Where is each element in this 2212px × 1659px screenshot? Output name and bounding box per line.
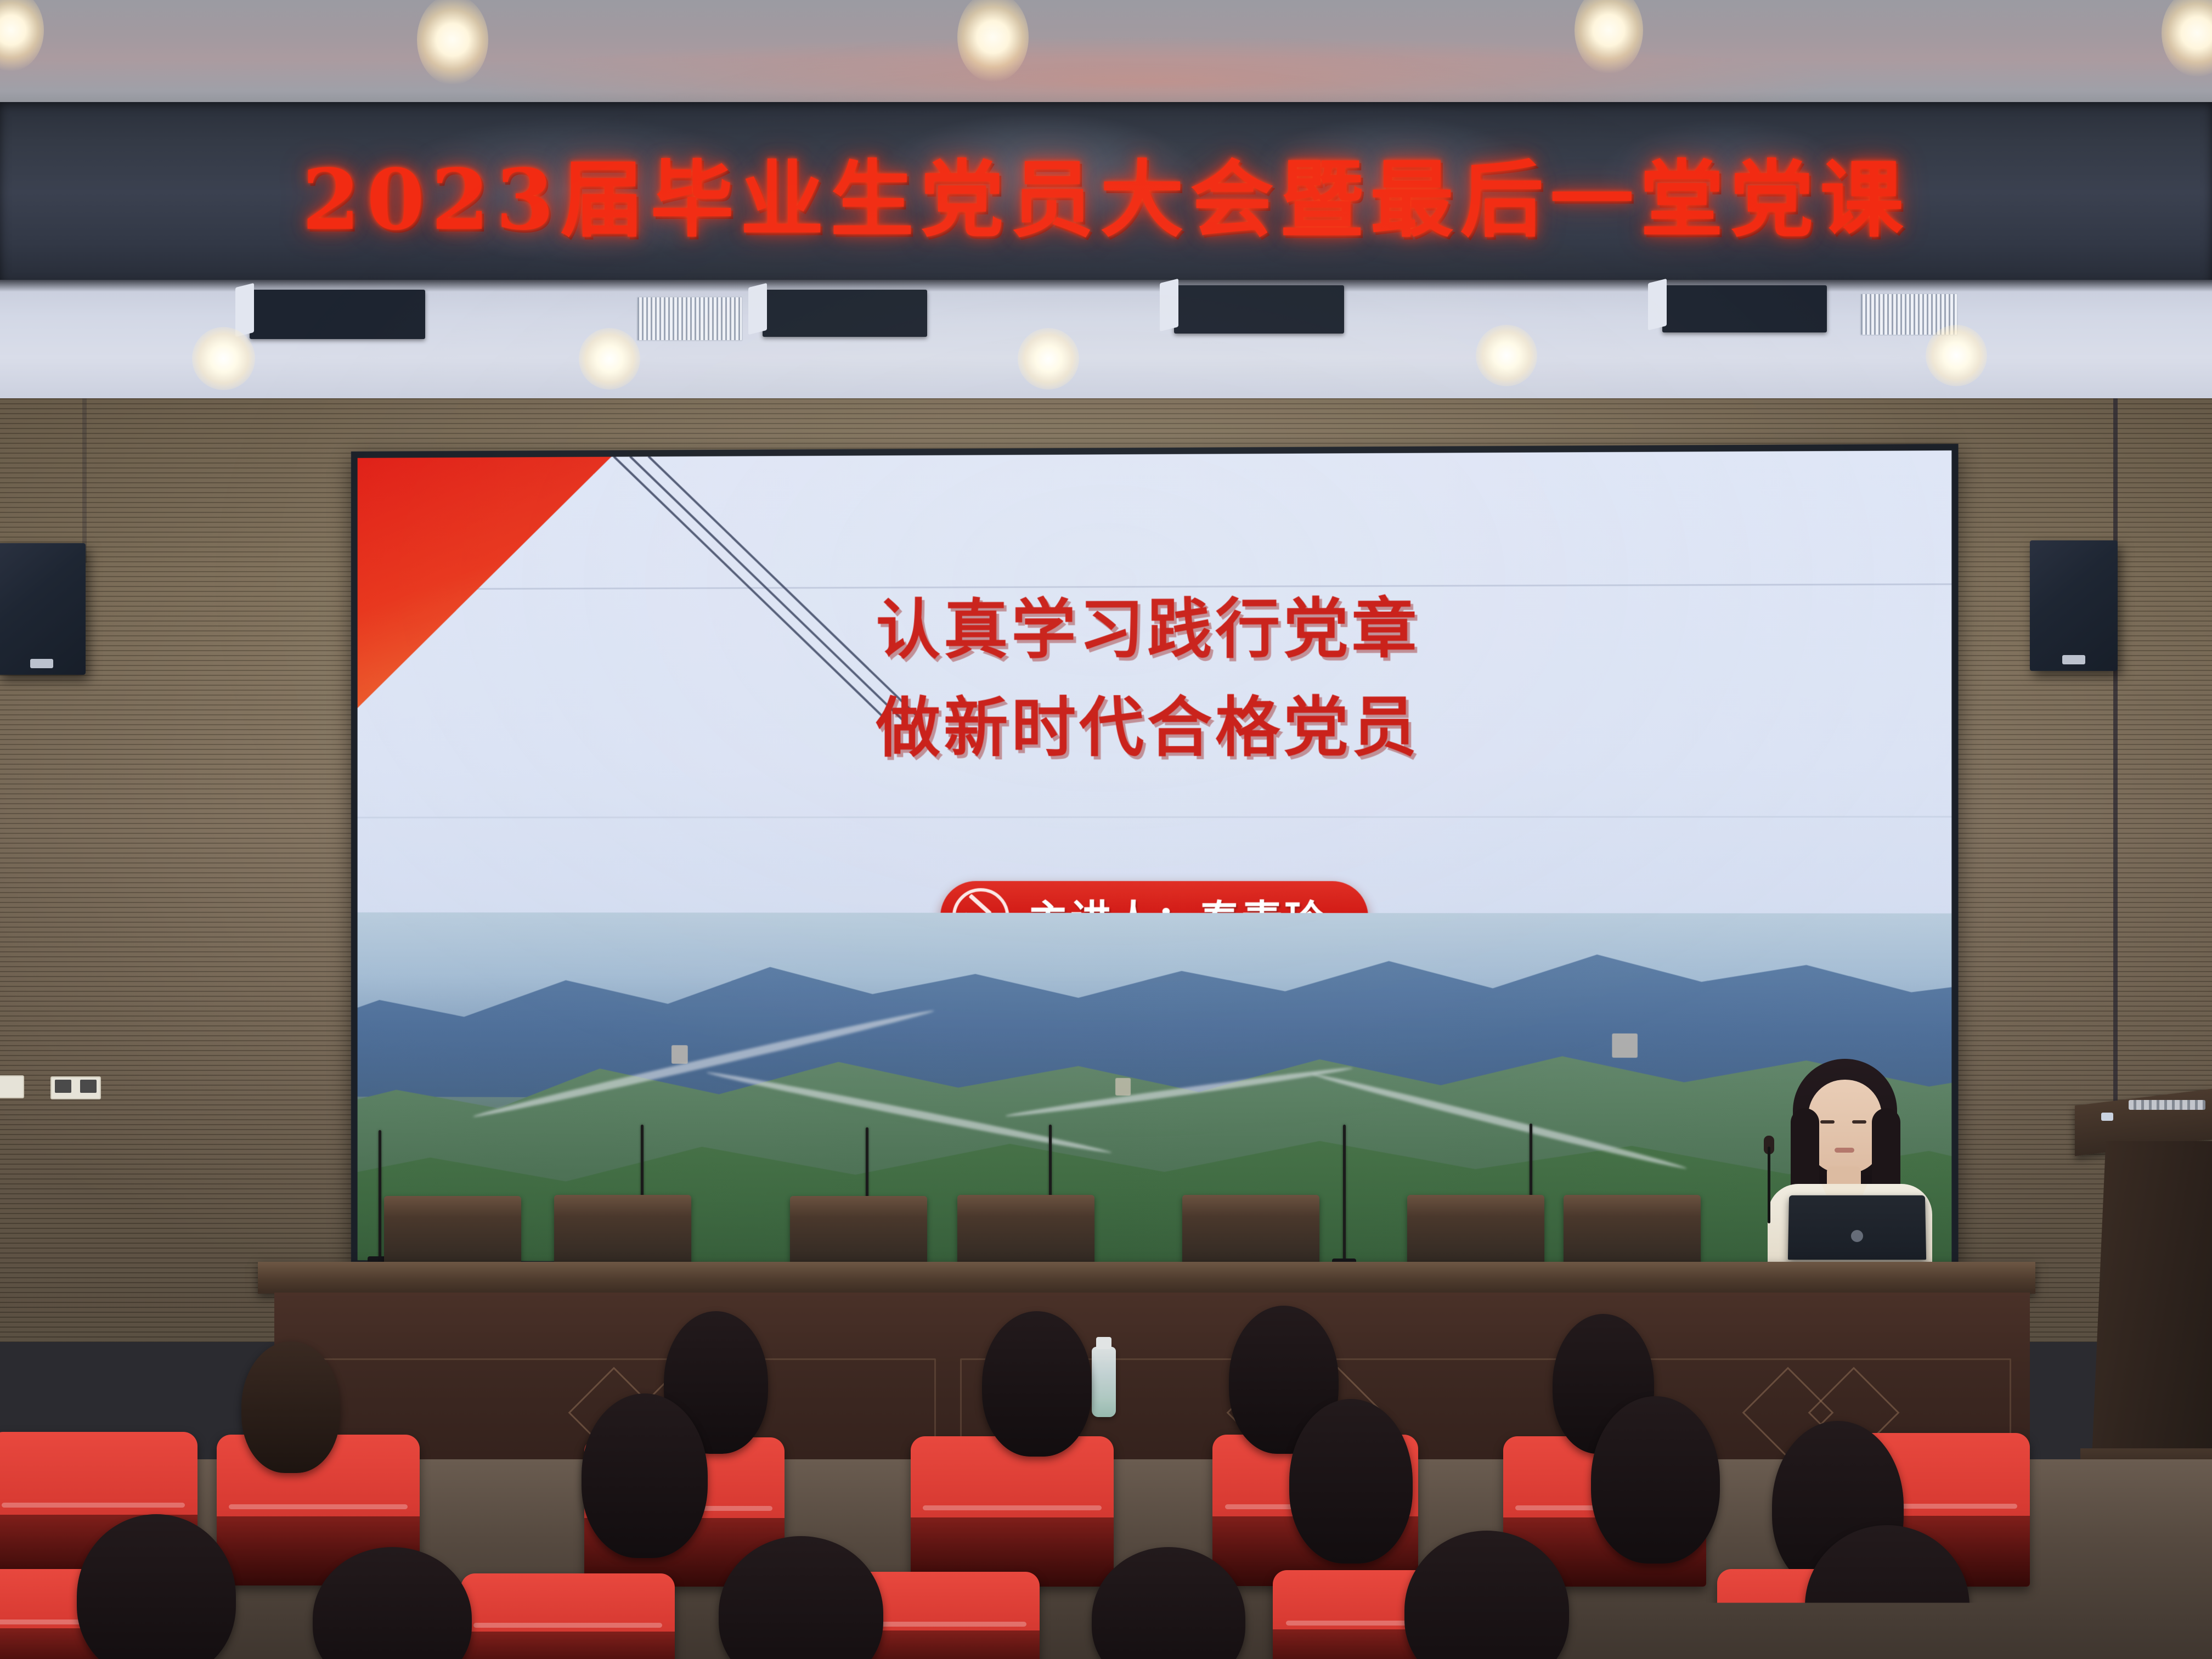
slide-title-line-2: 做新时代合格党员 — [358, 677, 1952, 778]
projection-screen-frame: 认真学习践行党章 做新时代合格党员 主讲人：秦素玲 — [351, 444, 1959, 1274]
stage-chair — [554, 1195, 691, 1267]
seat-lip — [2, 1503, 185, 1508]
soffit-downlight — [1018, 328, 1079, 390]
audience-member — [982, 1311, 1092, 1457]
ac-vent — [1174, 285, 1344, 334]
stage-chair — [1407, 1195, 1544, 1267]
ac-vent — [763, 290, 927, 337]
stage-chair — [957, 1195, 1094, 1267]
stage-chair — [1182, 1195, 1319, 1267]
screen-seam-line — [358, 816, 1952, 818]
led-banner: 2023届毕业生党员大会暨最后一堂党课 — [0, 102, 2212, 283]
presenter-eye-left — [1820, 1120, 1835, 1124]
seat-lip — [473, 1623, 662, 1628]
audience-member — [241, 1341, 340, 1473]
water-bottle[interactable] — [1092, 1347, 1116, 1417]
presenter-microphone — [1768, 1147, 1770, 1223]
presenter-mouth — [1835, 1148, 1854, 1153]
soffit-downlight — [1926, 325, 1987, 386]
audience-member — [582, 1393, 708, 1558]
speaker-brand-badge — [30, 659, 53, 668]
audience-member — [1591, 1396, 1720, 1564]
watchtower — [1115, 1078, 1131, 1096]
ac-vent — [250, 290, 425, 339]
stage-chair — [384, 1196, 521, 1267]
stage-chair — [790, 1196, 927, 1267]
soffit-downlight — [579, 328, 640, 390]
wall-speaker-left — [0, 543, 86, 675]
wall-seam — [82, 398, 87, 563]
audience-member — [1289, 1399, 1413, 1564]
watchtower — [1612, 1033, 1638, 1057]
projection-screen: 认真学习践行党章 做新时代合格党员 主讲人：秦素玲 — [358, 450, 1952, 1268]
seat-shadow — [461, 1632, 675, 1659]
table-microphone — [1343, 1125, 1346, 1268]
air-grille — [636, 296, 743, 341]
presenter-eye-right — [1852, 1120, 1866, 1124]
auditorium-scene: 2023届毕业生党员大会暨最后一堂党课 — [0, 0, 2212, 1659]
wall-switch-plate[interactable] — [50, 1076, 101, 1099]
soffit-downlight — [192, 327, 255, 390]
lectern-control-strip[interactable] — [2129, 1100, 2205, 1110]
slide-title-line-1: 认真学习践行党章 — [358, 578, 1952, 680]
ac-vent — [1662, 285, 1827, 332]
soffit-downlight — [1476, 325, 1537, 386]
seat-lip — [923, 1505, 1102, 1510]
presenter-face — [1808, 1080, 1882, 1173]
lectern-indicator-light — [2101, 1113, 2113, 1121]
stage-table-front-panel — [274, 1293, 2030, 1474]
audience-seat[interactable] — [911, 1436, 1114, 1587]
watchtower — [672, 1045, 688, 1064]
seat-lip — [229, 1504, 408, 1509]
wall-speaker-right — [2030, 540, 2118, 671]
stage-chair — [1564, 1195, 1701, 1267]
slide-title: 认真学习践行党章 做新时代合格党员 — [358, 578, 1952, 778]
table-microphone — [379, 1130, 381, 1267]
stage-table-top — [258, 1262, 2035, 1294]
wall-switch-plate[interactable] — [0, 1075, 24, 1098]
audience-seat[interactable] — [461, 1573, 675, 1659]
speaker-brand-badge — [2062, 655, 2085, 664]
presenter-laptop[interactable] — [1788, 1195, 1926, 1260]
lectern-body — [2091, 1141, 2212, 1470]
led-banner-text: 2023届毕业生党员大会暨最后一堂党课 — [0, 102, 2212, 283]
